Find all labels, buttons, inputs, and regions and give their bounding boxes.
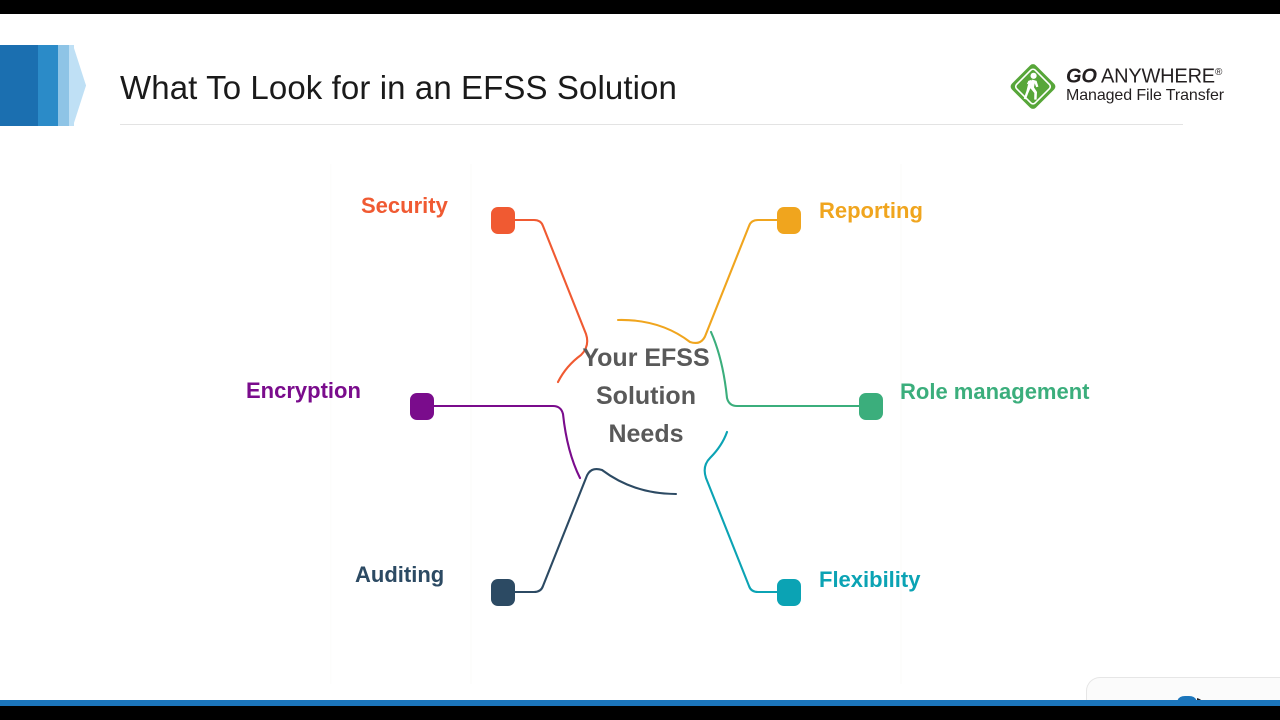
node-label-auditing[interactable]: Auditing bbox=[355, 562, 444, 588]
node-label-security[interactable]: Security bbox=[361, 193, 448, 219]
hub-line-1: Your EFSS bbox=[553, 339, 739, 377]
node-auditing[interactable] bbox=[491, 579, 515, 606]
node-label-reporting[interactable]: Reporting bbox=[819, 198, 923, 224]
connector-reporting bbox=[618, 220, 779, 343]
efss-mindmap-diagram: Your EFSS Solution Needs Security Report… bbox=[0, 14, 1280, 700]
hub-line-2: Solution bbox=[553, 377, 739, 415]
connector-auditing bbox=[513, 469, 676, 592]
connector-flexibility bbox=[705, 432, 779, 592]
slide-root: What To Look for in an EFSS Solution GO … bbox=[0, 0, 1280, 720]
helpsystems-watermark: helpsystems bbox=[1086, 677, 1280, 700]
hub-line-3: Needs bbox=[553, 415, 739, 453]
helpsystems-mark-icon bbox=[1105, 692, 1280, 700]
node-reporting[interactable] bbox=[777, 207, 801, 234]
node-label-role-management[interactable]: Role management bbox=[900, 379, 1090, 405]
letterbox-bar-bottom bbox=[0, 706, 1280, 720]
node-encryption[interactable] bbox=[410, 393, 434, 420]
node-label-encryption[interactable]: Encryption bbox=[246, 378, 361, 404]
letterbox-bar-top bbox=[0, 0, 1280, 14]
node-label-flexibility[interactable]: Flexibility bbox=[819, 567, 920, 593]
slide-canvas: What To Look for in an EFSS Solution GO … bbox=[0, 14, 1280, 700]
hub-center-label: Your EFSS Solution Needs bbox=[553, 339, 739, 453]
node-flexibility[interactable] bbox=[777, 579, 801, 606]
node-security[interactable] bbox=[491, 207, 515, 234]
node-role-management[interactable] bbox=[859, 393, 883, 420]
